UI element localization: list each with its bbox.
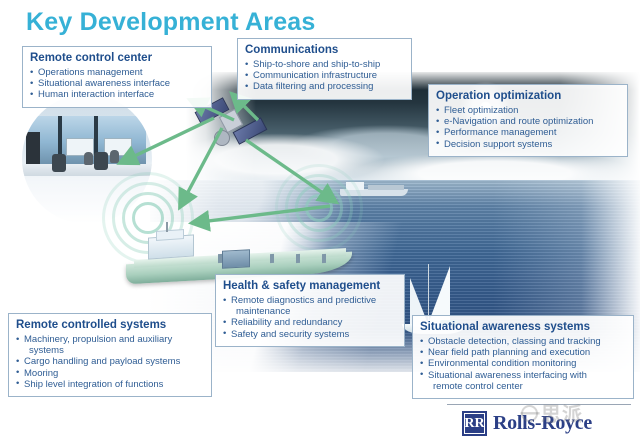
info-box-remote-controlled-systems[interactable]: Remote controlled systems Machinery, pro…: [8, 313, 212, 397]
watermark-text: 一思派: [520, 398, 583, 427]
list-item: Environmental condition monitoring: [420, 358, 626, 369]
control-room-operator: [110, 150, 119, 163]
list-item: Machinery, propulsion and auxiliary: [16, 334, 204, 345]
satellite-dish: [214, 130, 230, 146]
info-box-health-safety-management[interactable]: Health & safety management Remote diagno…: [215, 274, 405, 347]
ship-mast-antenna: [166, 222, 168, 232]
page-title: Key Development Areas: [26, 8, 316, 37]
list-item: Cargo handling and payload systems: [16, 356, 204, 367]
list-item: e-Navigation and route optimization: [436, 116, 620, 127]
box-bullet-list: Operations management Situational awaren…: [30, 67, 204, 101]
list-item-continuation: systems: [16, 345, 204, 356]
info-box-remote-control-center[interactable]: Remote control center Operations managem…: [22, 46, 212, 108]
ship-hatch: [296, 254, 300, 263]
ship-container-block: [222, 249, 250, 268]
list-item: Near field path planning and execution: [420, 347, 626, 358]
rolls-royce-badge-icon: RR: [462, 411, 487, 436]
list-item: Reliability and redundancy: [223, 317, 397, 328]
info-box-situational-awareness-systems[interactable]: Situational awareness systems Obstacle d…: [412, 315, 634, 399]
ship-hatch: [270, 254, 274, 263]
box-bullet-list: Ship-to-shore and ship-to-ship Communica…: [245, 59, 404, 93]
list-item: Mooring: [16, 368, 204, 379]
slide-canvas: Key Development Areas: [0, 0, 640, 443]
list-item: Obstacle detection, classing and trackin…: [420, 336, 626, 347]
box-heading: Communications: [245, 44, 404, 57]
list-item: Safety and security systems: [223, 329, 397, 340]
list-item-continuation: remote control center: [420, 381, 626, 392]
control-room-operator: [84, 152, 93, 165]
ship-hatch: [322, 254, 326, 263]
box-heading: Operation optimization: [436, 90, 620, 103]
list-item: Operations management: [30, 67, 204, 78]
box-heading: Health & safety management: [223, 280, 397, 293]
box-heading: Remote controlled systems: [16, 319, 204, 332]
list-item: Fleet optimization: [436, 105, 620, 116]
signal-ring: [305, 194, 333, 222]
list-item: Remote diagnostics and predictive: [223, 295, 397, 306]
box-bullet-list: Remote diagnostics and predictive mainte…: [223, 295, 397, 340]
info-box-operation-optimization[interactable]: Operation optimization Fleet optimizatio…: [428, 84, 628, 157]
list-item: Situational awareness interface: [30, 78, 204, 89]
list-item: Ship level integration of functions: [16, 379, 204, 390]
box-heading: Situational awareness systems: [420, 321, 626, 334]
list-item: Ship-to-shore and ship-to-ship: [245, 59, 404, 70]
control-room-chair: [94, 152, 108, 170]
list-item: Performance management: [436, 127, 620, 138]
list-item: Situational awareness interfacing with: [420, 370, 626, 381]
list-item: Data filtering and processing: [245, 81, 404, 92]
control-room-chair: [52, 154, 66, 172]
box-bullet-list: Machinery, propulsion and auxiliary syst…: [16, 334, 204, 390]
box-heading: Remote control center: [30, 52, 204, 65]
list-item: Decision support systems: [436, 139, 620, 150]
list-item-continuation: maintenance: [223, 306, 397, 317]
list-item: Communication infrastructure: [245, 70, 404, 81]
ship-bridge-top: [156, 229, 184, 241]
control-room-rack: [26, 132, 40, 166]
distant-ship-cargo: [368, 185, 404, 190]
info-box-communications[interactable]: Communications Ship-to-shore and ship-to…: [237, 38, 412, 100]
list-item: Human interaction interface: [30, 89, 204, 100]
box-bullet-list: Fleet optimization e-Navigation and rout…: [436, 105, 620, 150]
box-bullet-list: Obstacle detection, classing and trackin…: [420, 336, 626, 392]
